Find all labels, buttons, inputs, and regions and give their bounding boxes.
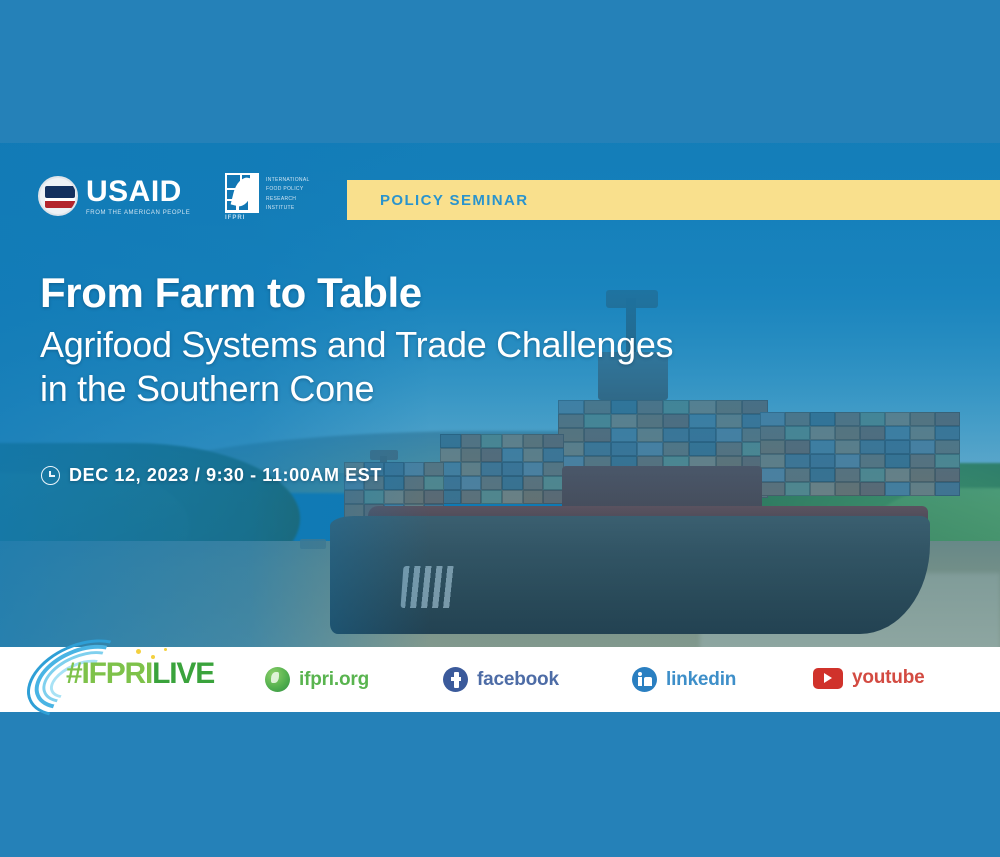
usaid-wordmark: USAID bbox=[86, 177, 190, 207]
event-poster: USAID FROM THE AMERICAN PEOPLE INTERNATI… bbox=[0, 0, 1000, 857]
social-link-youtube[interactable]: youtube bbox=[813, 667, 925, 689]
clock-icon bbox=[41, 466, 60, 485]
event-datetime: DEC 12, 2023 / 9:30 - 11:00AM EST bbox=[69, 465, 382, 486]
poster-card: USAID FROM THE AMERICAN PEOPLE INTERNATI… bbox=[0, 143, 1000, 647]
usaid-seal-icon bbox=[38, 176, 78, 216]
globe-icon bbox=[265, 667, 290, 692]
page-title: From Farm to Table bbox=[40, 271, 900, 315]
social-link-facebook[interactable]: facebook bbox=[443, 667, 559, 692]
ifpri-name-line-2: FOOD POLICY bbox=[266, 185, 310, 194]
policy-seminar-label: POLICY SEMINAR bbox=[380, 192, 529, 209]
ifpri-live-live-text: LIVE bbox=[152, 657, 214, 690]
page-subtitle-line-2: in the Southern Cone bbox=[40, 367, 900, 411]
ifpri-live-logo[interactable]: #IFPRILIVE bbox=[18, 641, 233, 713]
event-datetime-row: DEC 12, 2023 / 9:30 - 11:00AM EST bbox=[41, 465, 382, 486]
sparkle-icon-1 bbox=[136, 649, 141, 654]
ifpri-abbreviation: IFPRI bbox=[225, 215, 245, 221]
social-link-linkedin[interactable]: linkedin bbox=[632, 667, 736, 692]
youtube-icon bbox=[813, 668, 843, 689]
facebook-icon bbox=[443, 667, 468, 692]
top-blue-frame bbox=[0, 0, 1000, 143]
social-bar: #IFPRILIVE ifpri.org facebook linkedin y… bbox=[0, 647, 1000, 712]
bottom-blue-frame bbox=[0, 712, 1000, 857]
ifpri-leaf-mark-icon bbox=[225, 173, 259, 213]
social-link-linkedin-label: linkedin bbox=[666, 669, 736, 691]
usaid-tagline: FROM THE AMERICAN PEOPLE bbox=[86, 210, 190, 216]
ifpri-name-line-1: INTERNATIONAL bbox=[266, 176, 310, 185]
ifpri-name-line-4: INSTITUTE bbox=[266, 204, 310, 213]
poster-header: USAID FROM THE AMERICAN PEOPLE INTERNATI… bbox=[0, 143, 1000, 241]
ifpri-logo: INTERNATIONAL FOOD POLICY RESEARCH INSTI… bbox=[225, 173, 310, 213]
social-link-youtube-label: youtube bbox=[852, 667, 925, 689]
ifpri-live-hash-text: #IFPRI bbox=[66, 657, 152, 690]
usaid-logo: USAID FROM THE AMERICAN PEOPLE bbox=[38, 176, 190, 216]
ifpri-name-line-3: RESEARCH bbox=[266, 195, 310, 204]
poster-titles: From Farm to Table Agrifood Systems and … bbox=[40, 271, 900, 411]
social-link-website[interactable]: ifpri.org bbox=[265, 667, 369, 692]
sparkle-icon-3 bbox=[164, 648, 167, 651]
linkedin-icon bbox=[632, 667, 657, 692]
social-link-website-label: ifpri.org bbox=[299, 669, 369, 691]
policy-seminar-banner: POLICY SEMINAR bbox=[347, 180, 1000, 220]
social-link-facebook-label: facebook bbox=[477, 669, 559, 691]
page-subtitle-line-1: Agrifood Systems and Trade Challenges bbox=[40, 323, 900, 367]
